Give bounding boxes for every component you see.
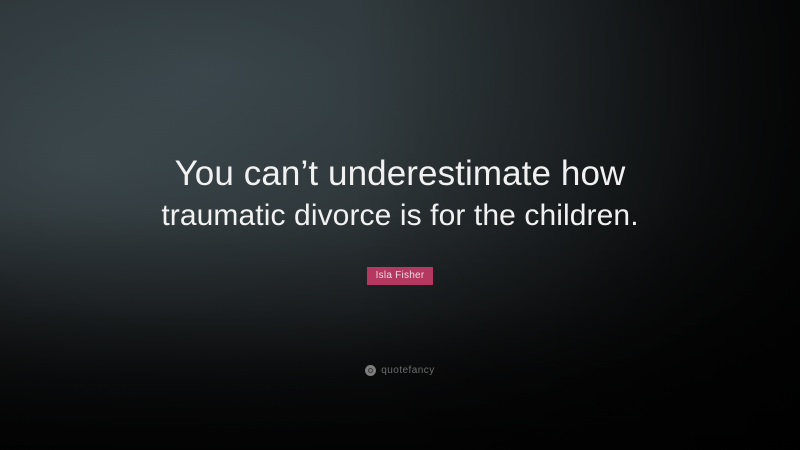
quotefancy-circle-logo-icon — [365, 365, 376, 376]
quote-line-1: You can’t underestimate how — [60, 152, 740, 196]
author-name-badge: Isla Fisher — [367, 267, 434, 285]
quote-line-2: traumatic divorce is for the children. — [60, 196, 740, 236]
quote-block: You can’t underestimate how traumatic di… — [0, 152, 800, 236]
author-attribution: Isla Fisher — [0, 267, 800, 285]
watermark: quotefancy — [0, 365, 800, 376]
quote-image-canvas: You can’t underestimate how traumatic di… — [0, 0, 800, 450]
watermark-label: quotefancy — [381, 365, 434, 376]
content-layer: You can’t underestimate how traumatic di… — [0, 0, 800, 450]
logo-inner-dot-icon — [368, 368, 373, 373]
